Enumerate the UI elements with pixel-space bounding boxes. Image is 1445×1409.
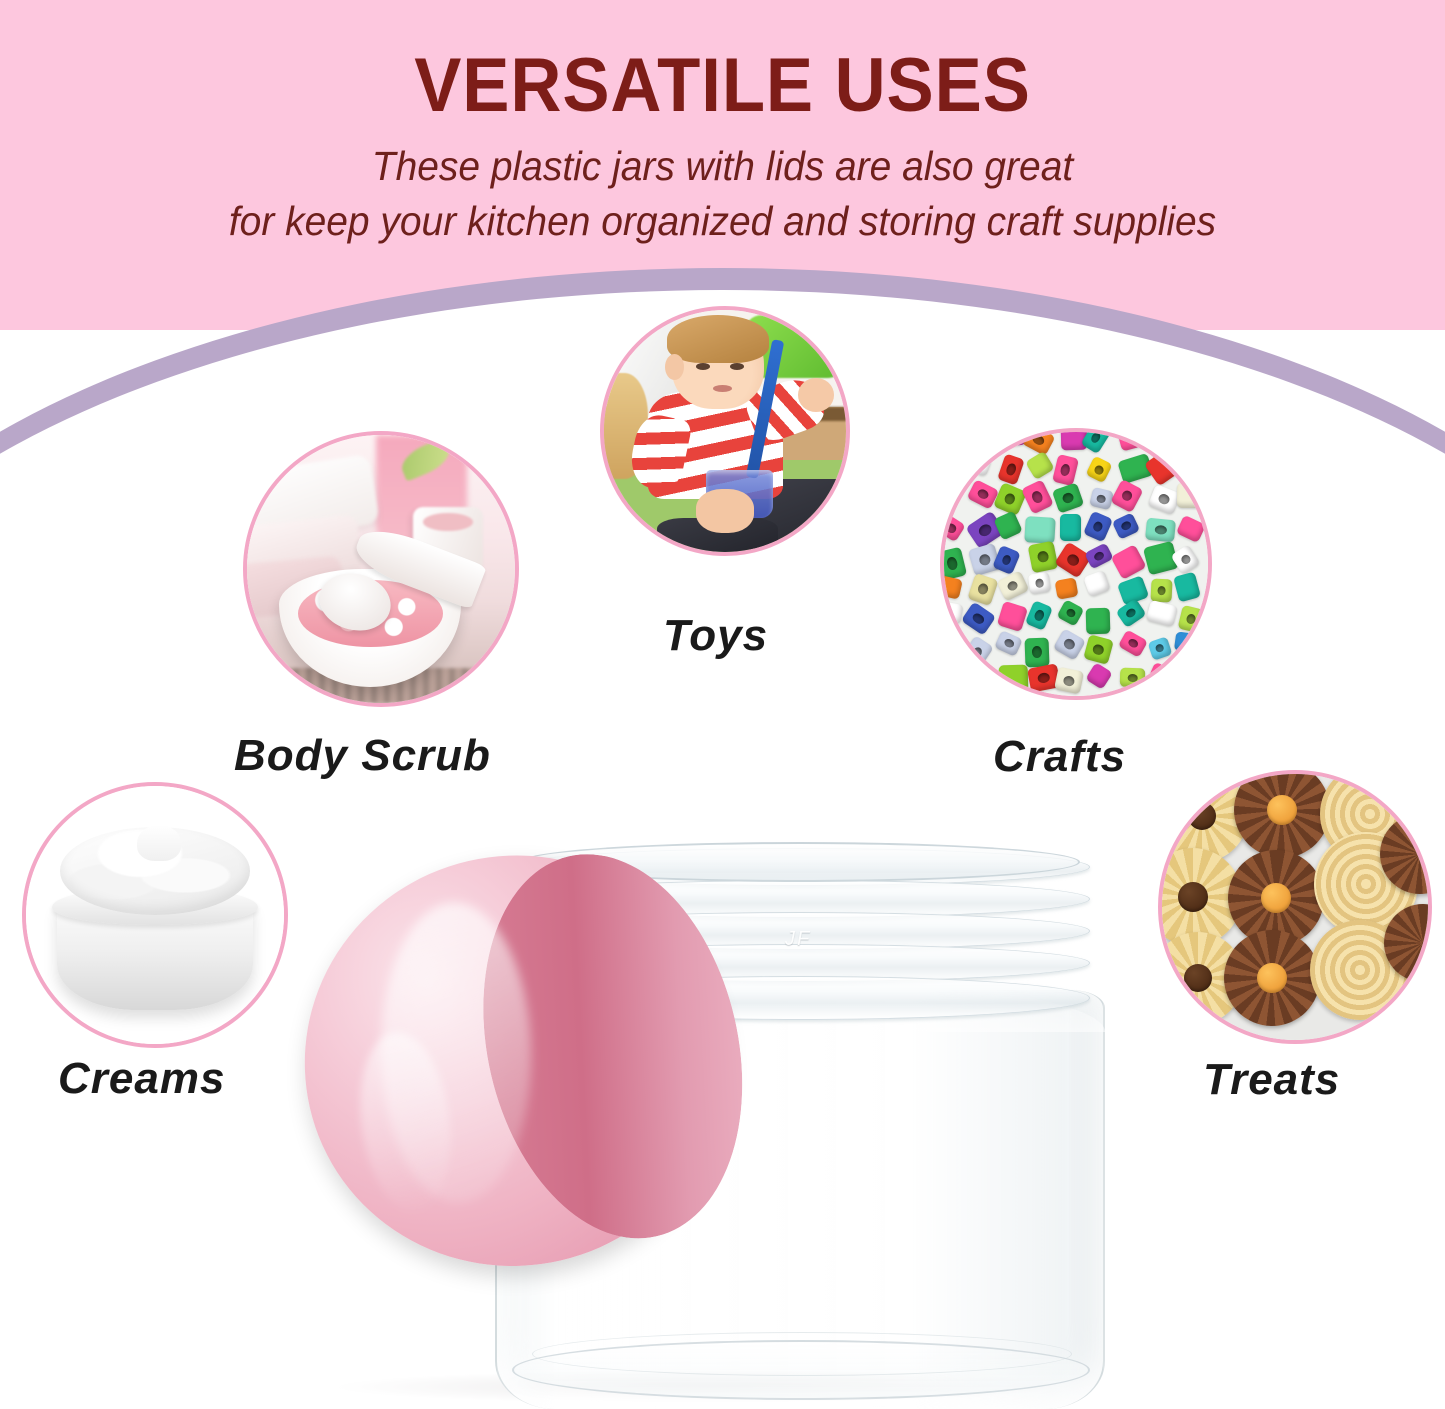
use-case-label-creams: Creams <box>58 1054 225 1104</box>
craft-bead <box>940 602 963 625</box>
toys-photo <box>604 310 846 552</box>
use-case-thumbnail-crafts <box>940 428 1212 700</box>
craft-bead <box>1174 631 1202 654</box>
treat-cookie-center <box>1261 883 1291 913</box>
creams-photo <box>26 786 284 1044</box>
page-title: VERSATILE USES <box>51 42 1395 129</box>
craft-bead <box>1027 541 1058 573</box>
craft-bead <box>1025 516 1057 544</box>
subtitle-line-2: for keep your kitchen organized and stor… <box>36 198 1409 245</box>
treat-cookie-center <box>1267 795 1297 825</box>
subtitle-line-1: These plastic jars with lids are also gr… <box>36 143 1409 190</box>
body-scrub-photo <box>247 435 515 703</box>
craft-bead <box>998 665 1028 695</box>
use-case-label-toys: Toys <box>663 611 768 661</box>
craft-bead <box>1144 517 1175 542</box>
crafts-photo <box>944 432 1208 696</box>
use-case-thumbnail-treats <box>1158 770 1432 1044</box>
jar-base-inner <box>532 1332 1072 1376</box>
use-case-thumbnail-body-scrub <box>243 431 519 707</box>
treats-photo <box>1162 774 1428 1040</box>
use-case-label-body-scrub: Body Scrub <box>234 731 491 781</box>
product-photo-jar-with-lid: JF <box>280 840 1160 1409</box>
craft-bead <box>1176 483 1205 508</box>
craft-bead <box>1025 638 1050 668</box>
craft-bead <box>1120 667 1146 687</box>
use-case-thumbnail-toys <box>600 306 850 556</box>
craft-bead <box>1177 428 1201 450</box>
craft-bead <box>1055 577 1079 599</box>
craft-bead <box>1151 578 1173 602</box>
craft-bead <box>1060 514 1082 541</box>
use-case-thumbnail-creams <box>22 782 288 1048</box>
treat-cookie-center <box>1257 963 1287 993</box>
use-case-label-crafts: Crafts <box>993 732 1126 782</box>
use-case-label-treats: Treats <box>1203 1055 1340 1105</box>
jar-embossed-mark: JF <box>785 928 811 951</box>
craft-bead <box>1086 607 1111 634</box>
